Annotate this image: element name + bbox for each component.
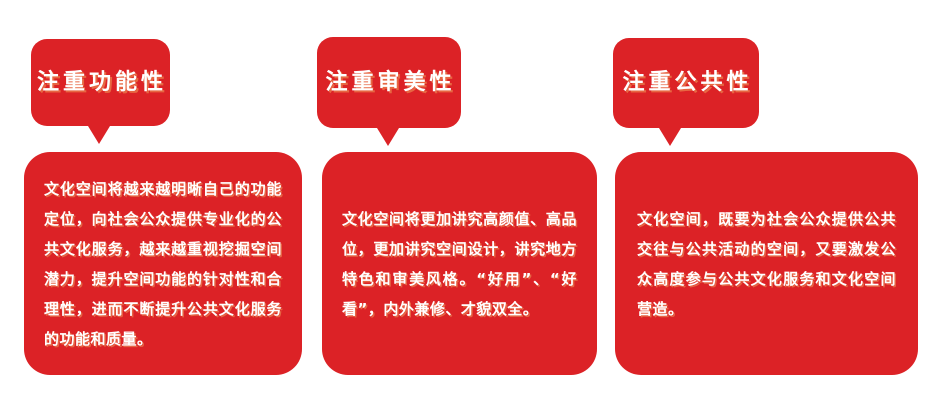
title-label: 注重功能性 xyxy=(34,72,167,94)
title-label: 注重公共性 xyxy=(619,72,752,94)
title-bubble-functionality[interactable]: 注重功能性 xyxy=(31,39,170,126)
infographic-canvas: 注重功能性 文化空间将越来越明晰自己的功能定位，向社会公众提供专业化的公共文化服… xyxy=(0,0,951,416)
bubble-tail-icon xyxy=(88,126,110,144)
body-paragraph: 文化空间将越来越明晰自己的功能定位，向社会公众提供专业化的公共文化服务，越来越重… xyxy=(44,174,282,354)
body-card-aesthetics[interactable]: 文化空间将更加讲究高颜值、高品位，更加讲究空间设计，讲究地方特色和审美风格。“好… xyxy=(322,152,597,375)
bubble-tail-icon xyxy=(377,128,399,146)
title-label: 注重审美性 xyxy=(322,72,455,94)
bubble-tail-icon xyxy=(659,128,681,146)
title-bubble-aesthetics[interactable]: 注重审美性 xyxy=(317,37,461,128)
body-paragraph: 文化空间，既要为社会公众提供公共交往与公共活动的空间，又要激发公众高度参与公共文… xyxy=(637,204,896,324)
body-card-publicness[interactable]: 文化空间，既要为社会公众提供公共交往与公共活动的空间，又要激发公众高度参与公共文… xyxy=(615,152,918,375)
body-card-functionality[interactable]: 文化空间将越来越明晰自己的功能定位，向社会公众提供专业化的公共文化服务，越来越重… xyxy=(24,152,302,375)
title-bubble-publicness[interactable]: 注重公共性 xyxy=(613,38,759,128)
body-paragraph: 文化空间将更加讲究高颜值、高品位，更加讲究空间设计，讲究地方特色和审美风格。“好… xyxy=(342,204,577,324)
